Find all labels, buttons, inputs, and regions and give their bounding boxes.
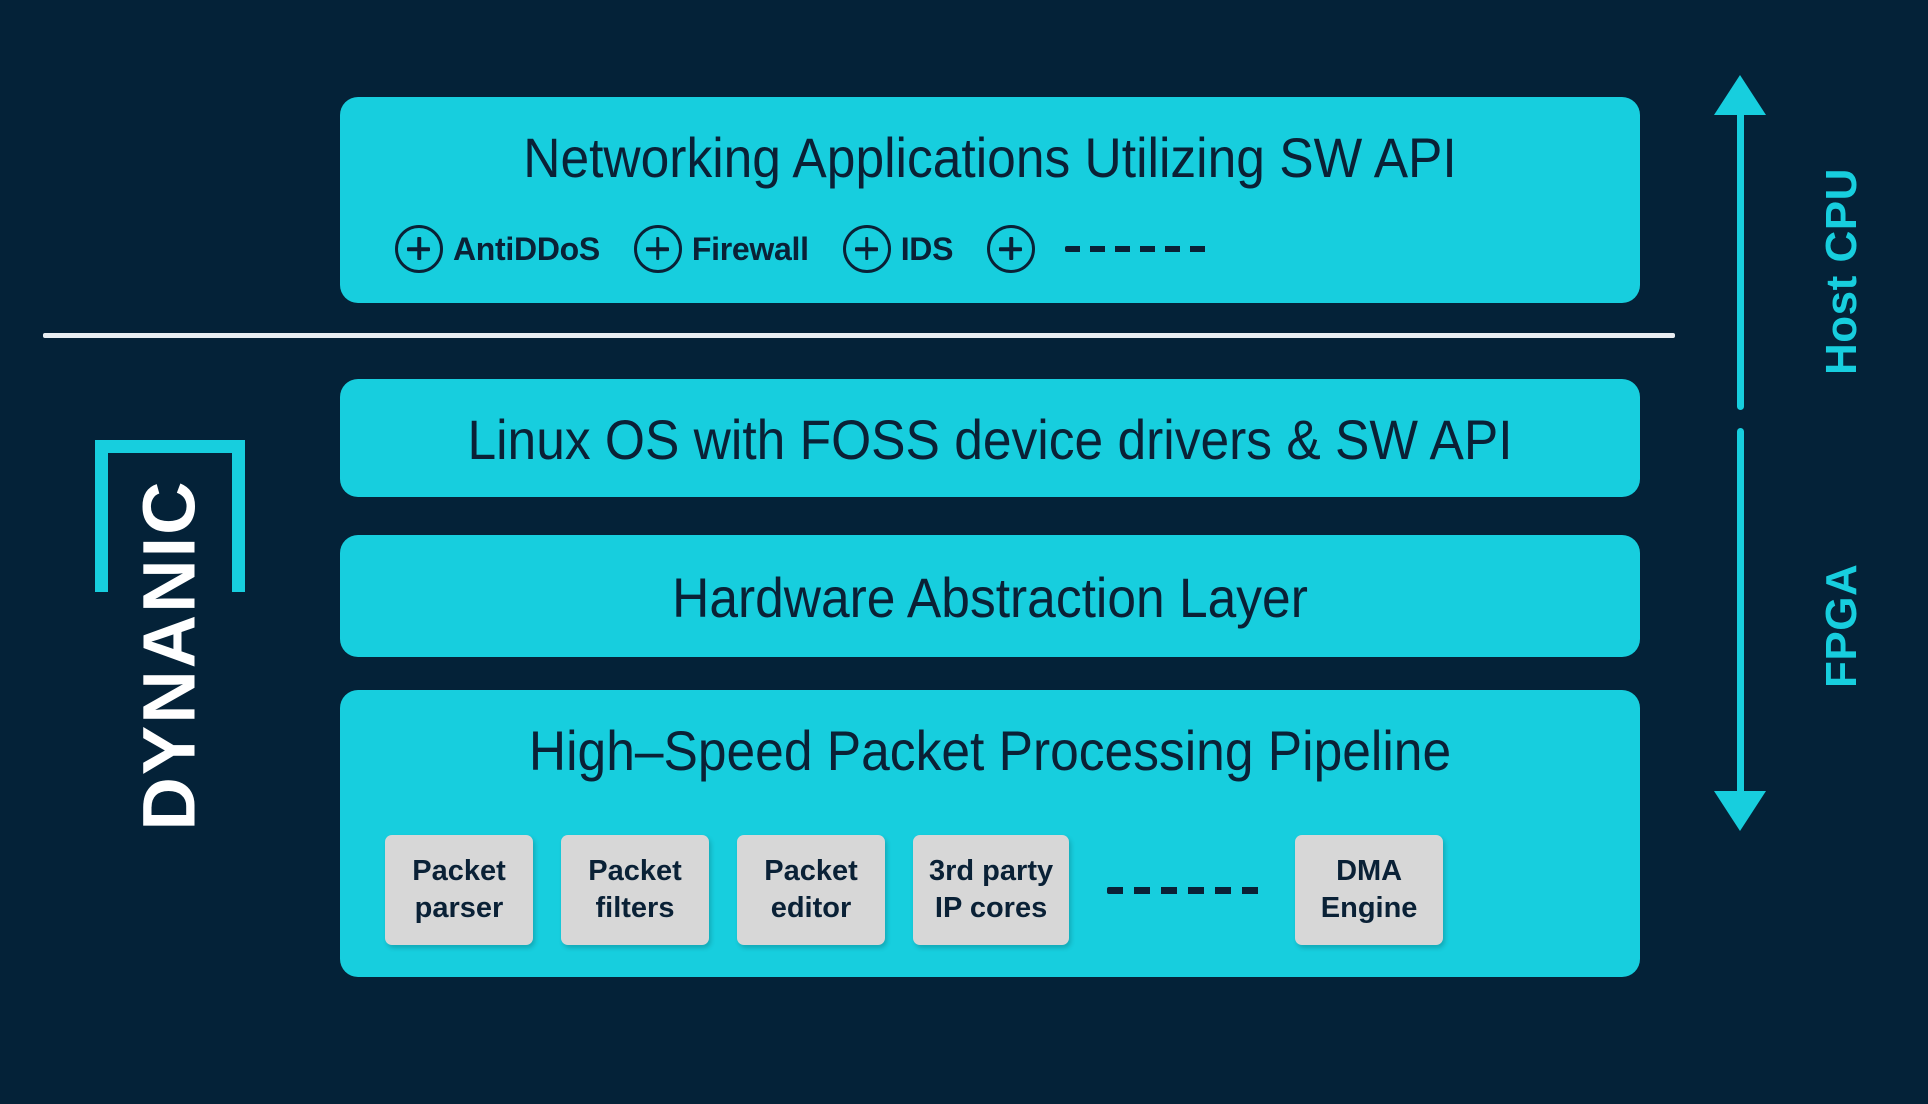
hw-block-dma-engine[interactable]: DMA Engine [1295,835,1443,945]
plugin-label-ids: IDS [901,231,953,268]
arrow-shaft [1737,105,1744,410]
hw-block-line2: Engine [1311,890,1427,927]
hw-block-line2: filters [577,890,693,927]
hw-block-line1: 3rd party [929,855,1053,887]
hw-block-line1: Packet [412,855,506,887]
layer-bar-applications[interactable]: Networking Applications Utilizing SW API… [340,97,1640,303]
side-label-fpga: FPGA [1817,564,1867,688]
hw-block-line2: parser [401,890,517,927]
hardware-block-row: Packet parser Packet filters Packet edit… [385,835,1471,945]
layer-title-pipeline: High–Speed Packet Processing Pipeline [392,718,1588,783]
arrow-shaft [1737,428,1744,796]
plus-circle-icon[interactable] [395,225,443,273]
dashed-continuation-icon [1065,246,1215,252]
plugin-label-antiddos: AntiDDoS [453,231,600,268]
plugin-ids[interactable]: IDS [843,225,953,273]
hw-block-packet-filters[interactable]: Packet filters [561,835,709,945]
hw-block-line1: Packet [764,855,858,887]
dynanic-logo: DYNANIC [95,440,245,870]
logo-text-wrap: DYNANIC [95,440,245,870]
hw-block-line2: editor [753,890,869,927]
plus-circle-icon[interactable] [987,225,1035,273]
layer-bar-hardware-abstraction[interactable]: Hardware Abstraction Layer [340,535,1640,657]
hw-block-3rd-party-ip-cores[interactable]: 3rd party IP cores [913,835,1069,945]
layer-bar-linux-os[interactable]: Linux OS with FOSS device drivers & SW A… [340,379,1640,497]
hw-block-line2: IP cores [929,890,1053,927]
side-label-host-cpu: Host CPU [1817,168,1867,375]
hw-block-packet-parser[interactable]: Packet parser [385,835,533,945]
layer-title-linux-os: Linux OS with FOSS device drivers & SW A… [392,407,1588,472]
plugin-antiddos[interactable]: AntiDDoS [395,225,600,273]
plus-circle-icon[interactable] [634,225,682,273]
hw-block-line1: Packet [588,855,682,887]
logo-text: DYNANIC [133,479,207,830]
plugin-firewall[interactable]: Firewall [634,225,809,273]
dashed-continuation-icon [1107,887,1265,894]
plugin-label-firewall: Firewall [692,231,809,268]
hw-block-line1: DMA [1336,855,1402,887]
layer-title-applications: Networking Applications Utilizing SW API [392,125,1588,190]
layer-bar-packet-pipeline[interactable]: High–Speed Packet Processing Pipeline Pa… [340,690,1640,977]
hw-block-packet-editor[interactable]: Packet editor [737,835,885,945]
layer-title-hal: Hardware Abstraction Layer [392,565,1588,630]
host-cpu-fpga-divider [43,333,1675,338]
arrow-down-icon [1714,791,1766,831]
plus-circle-icon[interactable] [843,225,891,273]
plugin-add-more[interactable] [987,225,1215,273]
diagram-canvas: DYNANIC Networking Applications Utilizin… [0,0,1928,1104]
plugin-row: AntiDDoS Firewall IDS [395,225,1249,273]
